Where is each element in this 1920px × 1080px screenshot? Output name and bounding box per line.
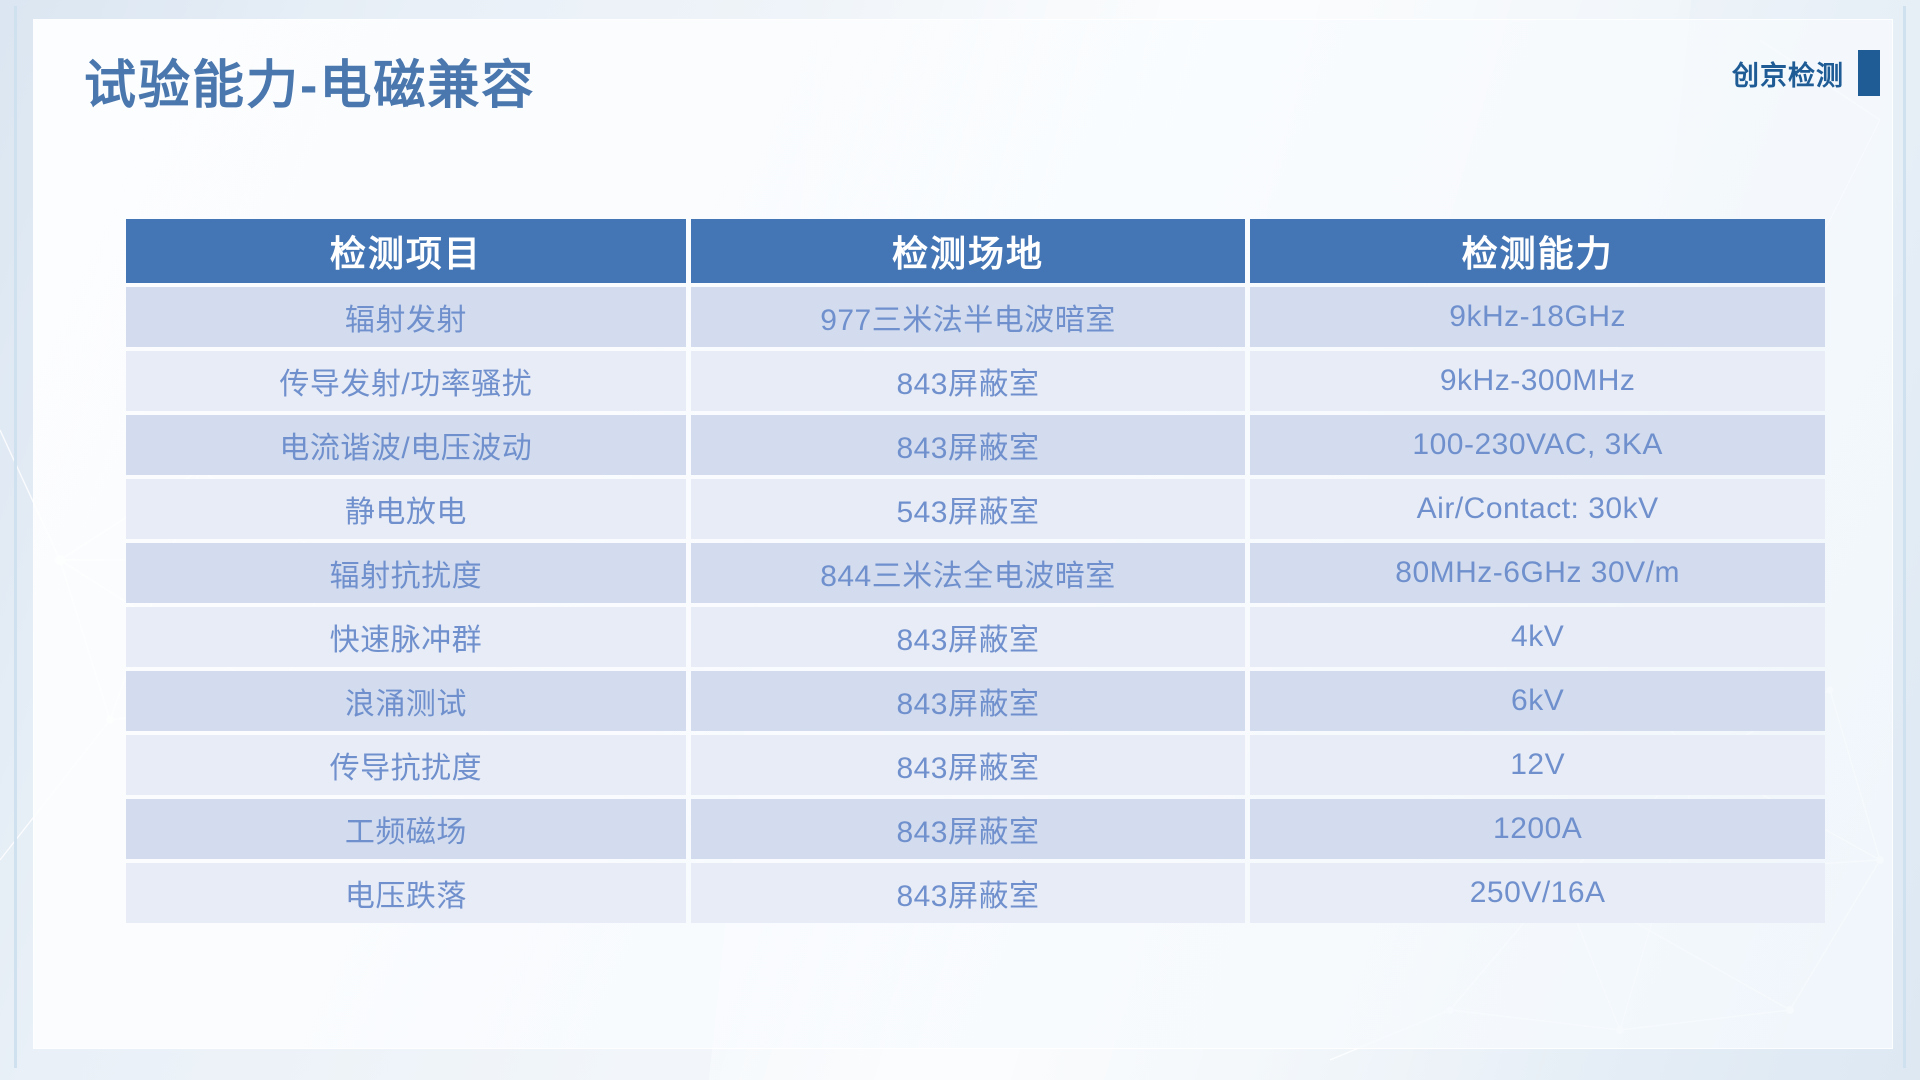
cell-item: 静电放电: [126, 479, 686, 539]
table-row: 辐射抗扰度844三米法全电波暗室80MHz-6GHz 30V/m: [126, 543, 1825, 603]
cell-item: 浪涌测试: [126, 671, 686, 731]
cell-site: 843屏蔽室: [691, 351, 1246, 411]
table-row: 辐射发射977三米法半电波暗室9kHz-18GHz: [126, 287, 1825, 347]
cell-item: 电压跌落: [126, 863, 686, 923]
table-row: 静电放电543屏蔽室Air/Contact: 30kV: [126, 479, 1825, 539]
cell-item: 传导抗扰度: [126, 735, 686, 795]
cell-capability: 6kV: [1250, 671, 1825, 731]
table-header-row: 检测项目 检测场地 检测能力: [126, 219, 1825, 283]
cell-item: 辐射抗扰度: [126, 543, 686, 603]
table-row: 快速脉冲群843屏蔽室4kV: [126, 607, 1825, 667]
cell-capability: 1200A: [1250, 799, 1825, 859]
cell-capability: 12V: [1250, 735, 1825, 795]
cell-item: 传导发射/功率骚扰: [126, 351, 686, 411]
cell-capability: 100-230VAC, 3KA: [1250, 415, 1825, 475]
cell-item: 辐射发射: [126, 287, 686, 347]
capability-table: 检测项目 检测场地 检测能力 辐射发射977三米法半电波暗室9kHz-18GHz…: [121, 215, 1830, 927]
table-header: 检测项目 检测场地 检测能力: [126, 219, 1825, 283]
column-header-capability: 检测能力: [1250, 219, 1825, 283]
cell-capability: 4kV: [1250, 607, 1825, 667]
table-row: 传导抗扰度843屏蔽室12V: [126, 735, 1825, 795]
table-row: 电压跌落843屏蔽室250V/16A: [126, 863, 1825, 923]
slide-canvas: 试验能力-电磁兼容 创京检测 检测项目 检测场地 检测能力 辐射发射977三米法…: [0, 0, 1920, 1080]
column-header-item: 检测项目: [126, 219, 686, 283]
brand-mark-icon: [1858, 50, 1880, 96]
cell-item: 工频磁场: [126, 799, 686, 859]
cell-site: 543屏蔽室: [691, 479, 1246, 539]
cell-site: 843屏蔽室: [691, 863, 1246, 923]
cell-site: 843屏蔽室: [691, 671, 1246, 731]
table-body: 辐射发射977三米法半电波暗室9kHz-18GHz传导发射/功率骚扰843屏蔽室…: [126, 287, 1825, 923]
cell-site: 843屏蔽室: [691, 607, 1246, 667]
table-row: 传导发射/功率骚扰843屏蔽室9kHz-300MHz: [126, 351, 1825, 411]
cell-site: 977三米法半电波暗室: [691, 287, 1246, 347]
column-header-site: 检测场地: [691, 219, 1246, 283]
cell-capability: Air/Contact: 30kV: [1250, 479, 1825, 539]
cell-capability: 9kHz-18GHz: [1250, 287, 1825, 347]
cell-site: 843屏蔽室: [691, 415, 1246, 475]
cell-site: 844三米法全电波暗室: [691, 543, 1246, 603]
table-row: 电流谐波/电压波动843屏蔽室100-230VAC, 3KA: [126, 415, 1825, 475]
table-row: 浪涌测试843屏蔽室6kV: [126, 671, 1825, 731]
cell-site: 843屏蔽室: [691, 799, 1246, 859]
table-row: 工频磁场843屏蔽室1200A: [126, 799, 1825, 859]
cell-capability: 9kHz-300MHz: [1250, 351, 1825, 411]
page-title: 试验能力-电磁兼容: [84, 58, 535, 115]
cell-item: 电流谐波/电压波动: [126, 415, 686, 475]
brand-logo: 创京检测: [1732, 50, 1880, 96]
cell-item: 快速脉冲群: [126, 607, 686, 667]
cell-capability: 80MHz-6GHz 30V/m: [1250, 543, 1825, 603]
brand-name-label: 创京检测: [1732, 54, 1844, 93]
cell-capability: 250V/16A: [1250, 863, 1825, 923]
cell-site: 843屏蔽室: [691, 735, 1246, 795]
